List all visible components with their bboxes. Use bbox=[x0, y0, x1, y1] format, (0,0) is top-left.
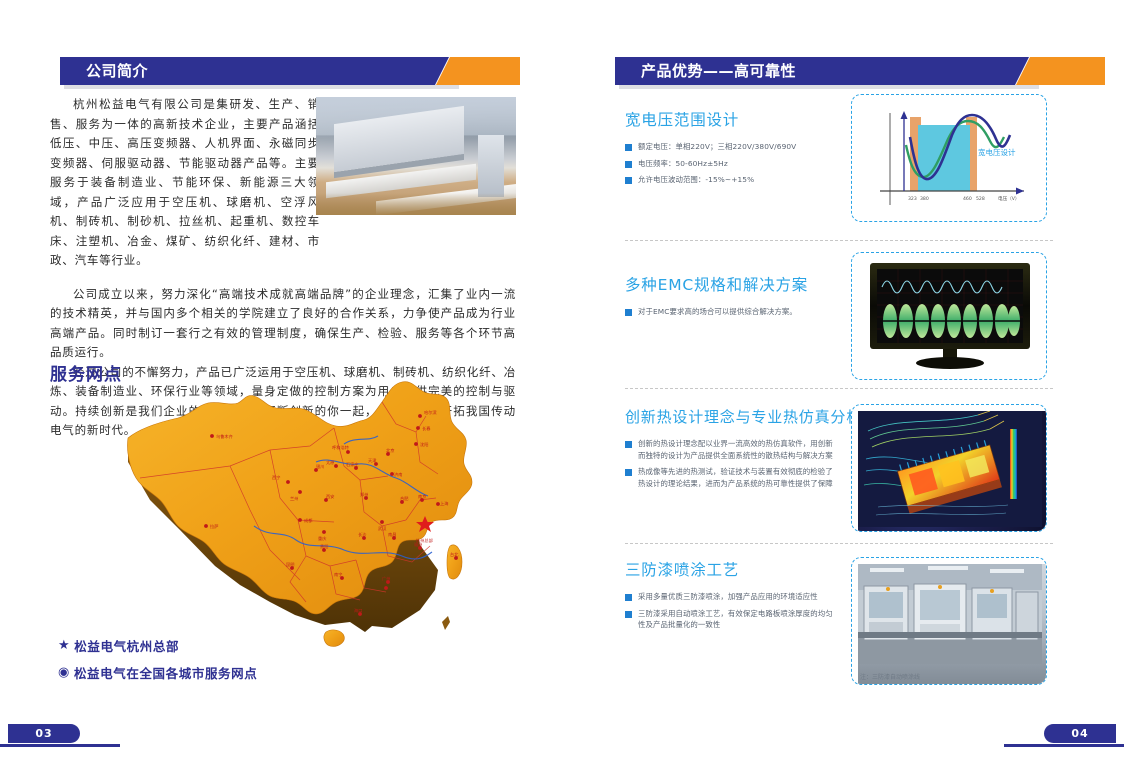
left-page: 公司简介 杭州松益电气有限公司是集研发、生产、销售、服务为一体的高新技术企业，主… bbox=[0, 0, 562, 765]
legend-label-hq: 松益电气杭州总部 bbox=[74, 636, 179, 655]
svg-text:528: 528 bbox=[976, 196, 985, 202]
coating-line-card: 注：三防漆自动喷涂线 bbox=[851, 557, 1047, 685]
china-map-svg: 乌鲁木齐 拉萨 西宁 兰州 银川 呼和浩特 哈尔滨 长春 沈阳 北京 天津 石家… bbox=[120, 370, 500, 655]
svg-text:380: 380 bbox=[920, 196, 929, 202]
svg-text:合肥: 合肥 bbox=[400, 495, 409, 502]
square-bullet-icon bbox=[625, 441, 632, 448]
svg-text:北京: 北京 bbox=[386, 447, 394, 454]
bullet-text: 三防漆采用自动喷涂工艺，有效保定电路板喷涂厚度的均匀性及产品批量化的一致性 bbox=[638, 608, 835, 631]
bullet-item: 三防漆采用自动喷涂工艺，有效保定电路板喷涂厚度的均匀性及产品批量化的一致性 bbox=[625, 608, 835, 631]
bullet-text: 允许电压波动范围：-15%~+15% bbox=[638, 174, 754, 186]
right-page-number: 04 bbox=[1044, 724, 1116, 743]
square-bullet-icon bbox=[625, 469, 632, 476]
left-banner-title: 公司简介 bbox=[60, 57, 148, 85]
divider-2 bbox=[625, 388, 1053, 389]
china-service-map: 乌鲁木齐 拉萨 西宁 兰州 银川 呼和浩特 哈尔滨 长春 沈阳 北京 天津 石家… bbox=[120, 370, 500, 655]
svg-text:西安: 西安 bbox=[326, 493, 334, 500]
svg-text:西宁: 西宁 bbox=[272, 474, 280, 481]
svg-text:杭州总部: 杭州总部 bbox=[416, 537, 433, 544]
feature-4-bullets: 采用多量优质三防漆喷涂，加强产品应用的环境适应性 三防漆采用自动喷涂工艺，有效保… bbox=[625, 591, 835, 631]
svg-text:石家庄: 石家庄 bbox=[346, 461, 359, 468]
photo-ground bbox=[316, 193, 516, 215]
square-bullet-icon bbox=[625, 611, 632, 618]
feature-1-bullets: 额定电压：单相220V；三相220V/380V/690V 电压频率：50-60H… bbox=[625, 141, 835, 186]
right-banner-title: 产品优势——高可靠性 bbox=[615, 57, 796, 85]
legend-item-hq: ★ 松益电气杭州总部 bbox=[58, 636, 257, 655]
svg-text:323: 323 bbox=[908, 196, 917, 202]
svg-text:贵阳: 贵阳 bbox=[320, 543, 328, 550]
svg-text:济南: 济南 bbox=[394, 471, 402, 478]
square-bullet-icon bbox=[625, 144, 632, 151]
service-network-heading: 服务网点 bbox=[50, 360, 122, 385]
left-page-number: 03 bbox=[8, 724, 80, 743]
bullet-text: 额定电压：单相220V；三相220V/380V/690V bbox=[638, 141, 796, 153]
right-banner: 产品优势——高可靠性 bbox=[615, 57, 1085, 85]
feature-2-bullets: 对于EMC要求高的场合可以提供综合解决方案。 bbox=[625, 306, 835, 318]
svg-text:兰州: 兰州 bbox=[290, 495, 298, 501]
map-hainan bbox=[324, 630, 344, 646]
bullet-item: 对于EMC要求高的场合可以提供综合解决方案。 bbox=[625, 306, 835, 318]
bullet-text: 对于EMC要求高的场合可以提供综合解决方案。 bbox=[638, 306, 797, 318]
thermal-simulation bbox=[858, 411, 1047, 532]
svg-text:重庆: 重庆 bbox=[318, 535, 327, 542]
bullet-text: 采用多量优质三防漆喷涂，加强产品应用的环境适应性 bbox=[638, 591, 818, 603]
legend-label-branches: 松益电气在全国各城市服务网点 bbox=[74, 663, 257, 682]
square-bullet-icon bbox=[625, 177, 632, 184]
bullet-item: 采用多量优质三防漆喷涂，加强产品应用的环境适应性 bbox=[625, 591, 835, 603]
svg-text:南昌: 南昌 bbox=[388, 531, 396, 538]
machine-enclosures bbox=[864, 584, 1038, 640]
svg-text:拉萨: 拉萨 bbox=[210, 523, 218, 530]
feature-3-bullets: 创新的热设计理念配以业界一流高效的热仿真软件，用创新而独特的设计为产品提供全面系… bbox=[625, 438, 835, 489]
x-axis-arrow bbox=[1016, 188, 1024, 195]
svg-text:海口: 海口 bbox=[354, 607, 362, 614]
divider-3 bbox=[625, 543, 1053, 544]
conveyor-belt bbox=[858, 632, 1042, 638]
chart-ticks: 323380 460528 电压（V） bbox=[908, 195, 1020, 202]
bullet-item: 电压频率：50-60Hz±5Hz bbox=[625, 158, 835, 170]
svg-text:呼和浩特: 呼和浩特 bbox=[332, 444, 349, 451]
plant-svg bbox=[858, 564, 1042, 664]
map-taiwan bbox=[447, 545, 462, 579]
voltage-curve-svg: 宽电压设计 323380 460528 电压（V） bbox=[858, 101, 1040, 215]
banner-shadow bbox=[64, 85, 459, 89]
modulated-envelope bbox=[880, 304, 1022, 338]
chart-label: 宽电压设计 bbox=[978, 147, 1016, 157]
svg-text:广州: 广州 bbox=[382, 575, 390, 582]
svg-text:南京: 南京 bbox=[418, 493, 426, 500]
svg-text:电压（V）: 电压（V） bbox=[998, 195, 1020, 202]
bullet-text: 电压频率：50-60Hz±5Hz bbox=[638, 158, 728, 170]
y-axis-arrow bbox=[901, 111, 908, 119]
svg-text:郑州: 郑州 bbox=[360, 491, 368, 498]
square-bullet-icon bbox=[625, 594, 632, 601]
bullet-item: 额定电压：单相220V；三相220V/380V/690V bbox=[625, 141, 835, 153]
svg-text:乌鲁木齐: 乌鲁木齐 bbox=[216, 433, 234, 440]
svg-text:长沙: 长沙 bbox=[358, 531, 367, 538]
svg-text:台北: 台北 bbox=[450, 551, 459, 558]
banner-orange-bar bbox=[450, 57, 520, 85]
bullet-item: 创新的热设计理念配以业界一流高效的热仿真软件，用创新而独特的设计为产品提供全面系… bbox=[625, 438, 835, 461]
photo-tower bbox=[478, 135, 504, 197]
svg-text:银川: 银川 bbox=[316, 463, 324, 470]
intro-paragraph-2: 公司成立以来，努力深化“高端技术成就高端品牌”的企业理念，汇集了业内一流的技术精… bbox=[50, 285, 516, 363]
monitor-svg bbox=[858, 259, 1042, 375]
svg-text:哈尔滨: 哈尔滨 bbox=[424, 409, 437, 416]
svg-text:460: 460 bbox=[963, 196, 972, 202]
divider-1 bbox=[625, 240, 1053, 241]
bullet-item: 热成像等先进的热测试，验证技术与装置有效彻底的检验了热设计的理论结果，进而为产品… bbox=[625, 466, 835, 489]
brochure-spread: 公司简介 杭州松益电气有限公司是集研发、生产、销售、服务为一体的高新技术企业，主… bbox=[0, 0, 1124, 765]
svg-text:沈阳: 沈阳 bbox=[420, 441, 428, 448]
svg-text:武汉: 武汉 bbox=[378, 525, 387, 532]
wide-voltage-chart: 宽电压设计 323380 460528 电压（V） bbox=[858, 101, 1040, 215]
bullet-text: 创新的热设计理念配以业界一流高效的热仿真软件，用创新而独特的设计为产品提供全面系… bbox=[638, 438, 835, 461]
left-page-bar bbox=[0, 744, 120, 747]
wide-voltage-chart-card: 宽电压设计 323380 460528 电压（V） bbox=[851, 94, 1047, 222]
coating-line-caption: 注：三防漆自动喷涂线 bbox=[860, 672, 920, 681]
left-banner: 公司简介 bbox=[60, 57, 510, 85]
svg-text:太原: 太原 bbox=[326, 459, 334, 466]
svg-text:成都: 成都 bbox=[304, 517, 313, 524]
coating-production-line bbox=[858, 564, 1047, 685]
factory-photo bbox=[316, 97, 516, 215]
plant-floor bbox=[858, 638, 1042, 664]
thermal-colorbar bbox=[1010, 429, 1017, 499]
svg-text:天津: 天津 bbox=[368, 457, 376, 464]
svg-text:上海: 上海 bbox=[440, 500, 449, 507]
emc-monitor-card bbox=[851, 252, 1047, 380]
thermal-svg bbox=[858, 411, 1042, 527]
intro-paragraph-1: 杭州松益电气有限公司是集研发、生产、销售、服务为一体的高新技术企业，主要产品涵括… bbox=[50, 95, 320, 271]
banner-orange-bar-right bbox=[1030, 57, 1105, 85]
map-island-dot bbox=[442, 616, 450, 630]
bullet-text: 热成像等先进的热测试，验证技术与装置有效彻底的检验了热设计的理论结果，进而为产品… bbox=[638, 466, 835, 489]
square-bullet-icon bbox=[625, 309, 632, 316]
banner-shadow-right bbox=[619, 85, 1039, 89]
svg-text:南宁: 南宁 bbox=[334, 571, 342, 577]
circle-dot-icon: ◉ bbox=[58, 666, 70, 679]
bullet-item: 允许电压波动范围：-15%~+15% bbox=[625, 174, 835, 186]
svg-text:长春: 长春 bbox=[422, 425, 431, 432]
star-icon: ★ bbox=[58, 639, 70, 652]
thermal-simulation-card bbox=[851, 404, 1047, 532]
emc-waveform-monitor bbox=[858, 259, 1047, 380]
square-bullet-icon bbox=[625, 161, 632, 168]
monitor-base bbox=[916, 357, 984, 369]
legend-item-branches: ◉ 松益电气在全国各城市服务网点 bbox=[58, 663, 257, 682]
map-legend: ★ 松益电气杭州总部 ◉ 松益电气在全国各城市服务网点 bbox=[58, 636, 257, 690]
right-page-bar bbox=[1004, 744, 1124, 747]
